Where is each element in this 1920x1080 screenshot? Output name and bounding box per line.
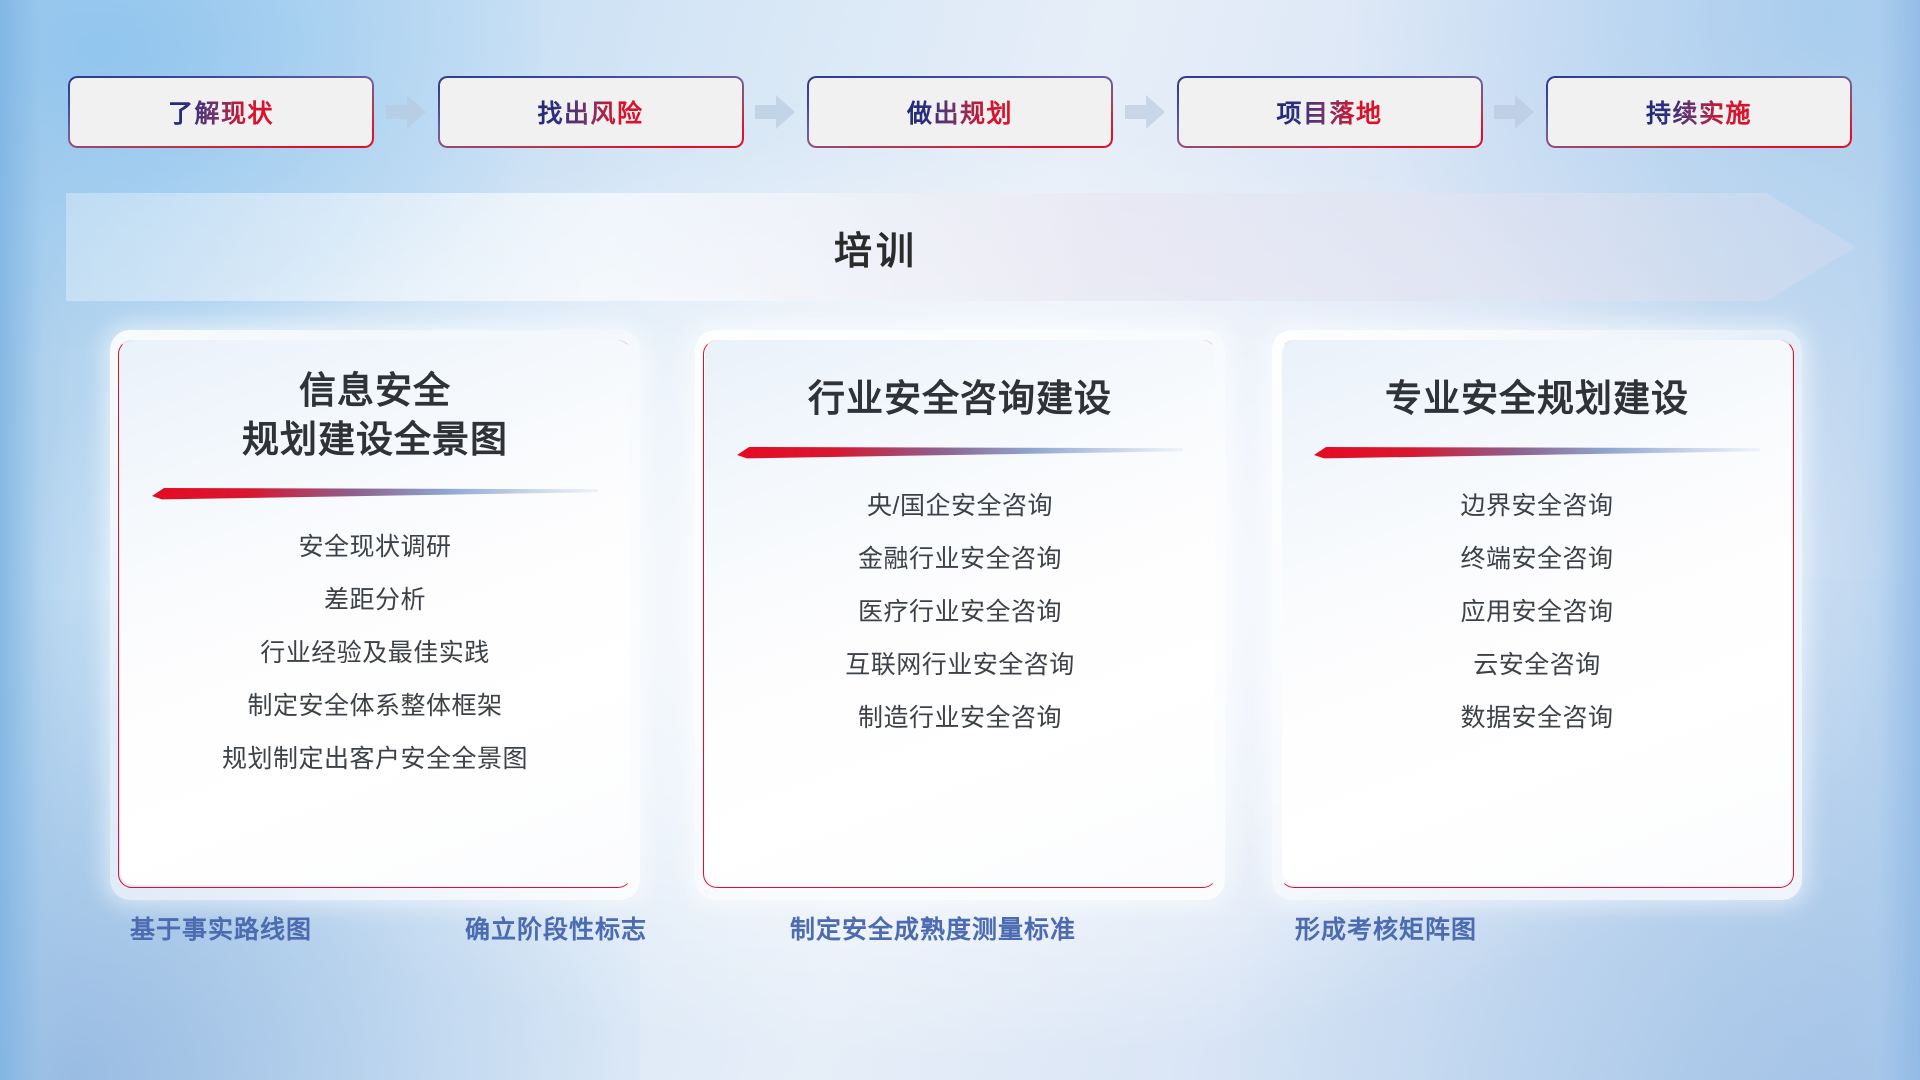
list-item: 边界安全咨询	[1460, 485, 1613, 528]
card-title-line: 信息安全	[242, 366, 508, 415]
step-box-1[interactable]: 了解现状	[68, 76, 374, 148]
card-divider	[152, 486, 598, 500]
caption-3: 制定安全成熟度测量标准	[790, 910, 1076, 946]
step-label: 持续实施	[1646, 94, 1752, 130]
card-body: 行业安全咨询建设	[705, 340, 1215, 885]
cards-row: 信息安全 规划建设全景图	[0, 330, 1920, 900]
card-title-line: 行业安全咨询建设	[808, 374, 1112, 423]
list-item: 规划制定出客户安全全景图	[222, 738, 528, 781]
list-item: 安全现状调研	[298, 526, 451, 569]
list-item: 数据安全咨询	[1460, 697, 1613, 740]
step-label: 项目落地	[1276, 94, 1382, 130]
training-banner: 培训	[66, 193, 1856, 301]
training-banner-label: 培训	[834, 220, 918, 275]
card-divider	[1314, 445, 1760, 459]
caption-2: 确立阶段性标志	[465, 910, 647, 946]
card-title-line: 专业安全规划建设	[1385, 374, 1689, 423]
process-steps: 了解现状 找出风险 做出规划 项目落地 持续实施	[68, 76, 1852, 148]
step-label: 做出规划	[907, 94, 1013, 130]
list-item: 互联网行业安全咨询	[845, 644, 1075, 687]
card-list: 安全现状调研 差距分析 行业经验及最佳实践 制定安全体系整体框架 规划制定出客户…	[222, 526, 528, 781]
arrow-right-icon	[755, 95, 795, 129]
step-box-3[interactable]: 做出规划	[807, 76, 1113, 148]
list-item: 央/国企安全咨询	[867, 485, 1053, 528]
step-box-4[interactable]: 项目落地	[1177, 76, 1483, 148]
arrow-right-icon	[386, 95, 426, 129]
caption-1: 基于事实路线图	[130, 910, 312, 946]
list-item: 制定安全体系整体框架	[247, 685, 502, 728]
list-item: 行业经验及最佳实践	[260, 632, 490, 675]
list-item: 制造行业安全咨询	[858, 697, 1062, 740]
card-list: 央/国企安全咨询 金融行业安全咨询 医疗行业安全咨询 互联网行业安全咨询 制造行…	[845, 485, 1075, 740]
card-3[interactable]: 专业安全规划建设	[1272, 330, 1802, 900]
card-body: 专业安全规划建设	[1282, 340, 1792, 885]
step-label: 找出风险	[537, 94, 643, 130]
card-title-line: 规划建设全景图	[242, 415, 508, 464]
step-box-2[interactable]: 找出风险	[438, 76, 744, 148]
card-title: 行业安全咨询建设	[808, 374, 1112, 423]
list-item: 差距分析	[324, 579, 426, 622]
captions-row: 基于事实路线图 确立阶段性标志 制定安全成熟度测量标准 形成考核矩阵图	[0, 910, 1920, 960]
list-item: 金融行业安全咨询	[858, 538, 1062, 581]
step-label: 了解现状	[168, 94, 274, 130]
step-box-5[interactable]: 持续实施	[1546, 76, 1852, 148]
training-banner-label-wrap: 培训	[66, 193, 1856, 301]
list-item: 应用安全咨询	[1460, 591, 1613, 634]
card-title: 信息安全 规划建设全景图	[242, 366, 508, 464]
card-divider	[737, 445, 1183, 459]
card-2[interactable]: 行业安全咨询建设	[695, 330, 1225, 900]
card-1[interactable]: 信息安全 规划建设全景图	[110, 330, 640, 900]
list-item: 终端安全咨询	[1460, 538, 1613, 581]
card-title: 专业安全规划建设	[1385, 374, 1689, 423]
list-item: 云安全咨询	[1473, 644, 1601, 687]
card-body: 信息安全 规划建设全景图	[120, 340, 630, 885]
list-item: 医疗行业安全咨询	[858, 591, 1062, 634]
caption-4: 形成考核矩阵图	[1295, 910, 1477, 946]
arrow-right-icon	[1494, 95, 1534, 129]
arrow-right-icon	[1125, 95, 1165, 129]
card-list: 边界安全咨询 终端安全咨询 应用安全咨询 云安全咨询 数据安全咨询	[1460, 485, 1613, 740]
